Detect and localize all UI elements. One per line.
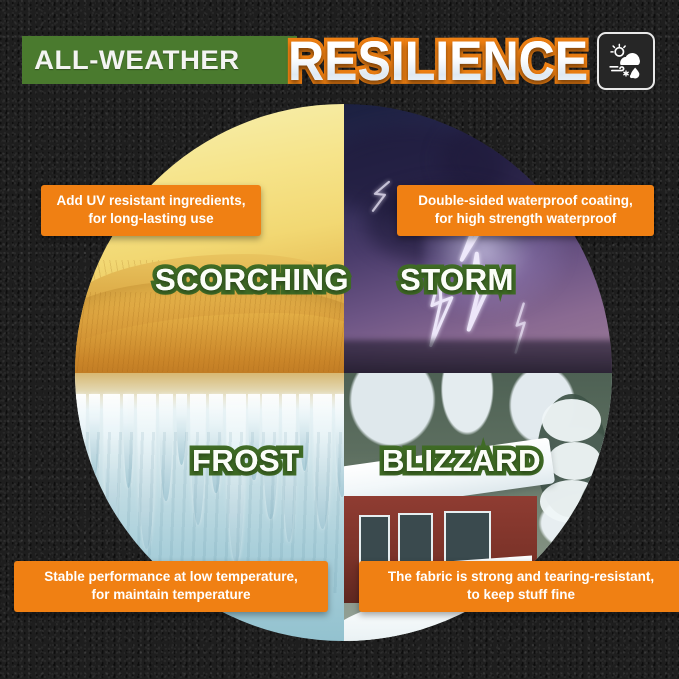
callout-line-1: Add UV resistant ingredients,	[53, 192, 249, 210]
label-blizzard-outline: BLIZZARD	[382, 443, 541, 479]
storm-horizon	[344, 340, 613, 372]
sun-cloud-wind-snow-rain-icon	[606, 41, 646, 81]
quadrant-storm	[344, 104, 613, 373]
title-all-weather: ALL-WEATHER	[20, 45, 240, 76]
callout-waterproof-coating: Double-sided waterproof coating, for hig…	[397, 185, 654, 236]
callout-line-2: for maintain temperature	[26, 586, 316, 604]
callout-line-1: The fabric is strong and tearing-resista…	[371, 568, 671, 586]
cabin-window	[398, 513, 433, 566]
callout-uv-resistant: Add UV resistant ingredients, for long-l…	[41, 185, 261, 236]
callout-line-2: to keep stuff fine	[371, 586, 671, 604]
callout-line-1: Stable performance at low temperature,	[26, 568, 316, 586]
cabin-window	[359, 515, 390, 564]
callout-line-2: for long-lasting use	[53, 210, 249, 228]
tree-snow	[548, 442, 602, 480]
label-frost-outline: FROST	[192, 443, 300, 479]
header: ALL-WEATHER RESILIENCE RESILIENCE	[0, 30, 679, 92]
label-scorching-outline: SCORCHING	[155, 262, 349, 298]
dune-ripple-texture-near	[75, 292, 344, 373]
callout-line-1: Double-sided waterproof coating,	[409, 192, 642, 210]
quadrant-scorching	[75, 104, 344, 373]
promo-banner: ALL-WEATHER RESILIENCE RESILIENCE	[0, 0, 679, 679]
callout-line-2: for high strength waterproof	[409, 210, 642, 228]
lightning-bolts	[344, 104, 613, 373]
title-green-bar: ALL-WEATHER	[22, 36, 297, 84]
title-resilience-outline: RESILIENCE	[288, 26, 588, 95]
callout-tear-resistant: The fabric is strong and tearing-resista…	[359, 561, 679, 612]
callout-low-temperature: Stable performance at low temperature, f…	[14, 561, 328, 612]
label-storm-outline: STORM	[400, 262, 514, 298]
weather-badge	[597, 32, 655, 90]
